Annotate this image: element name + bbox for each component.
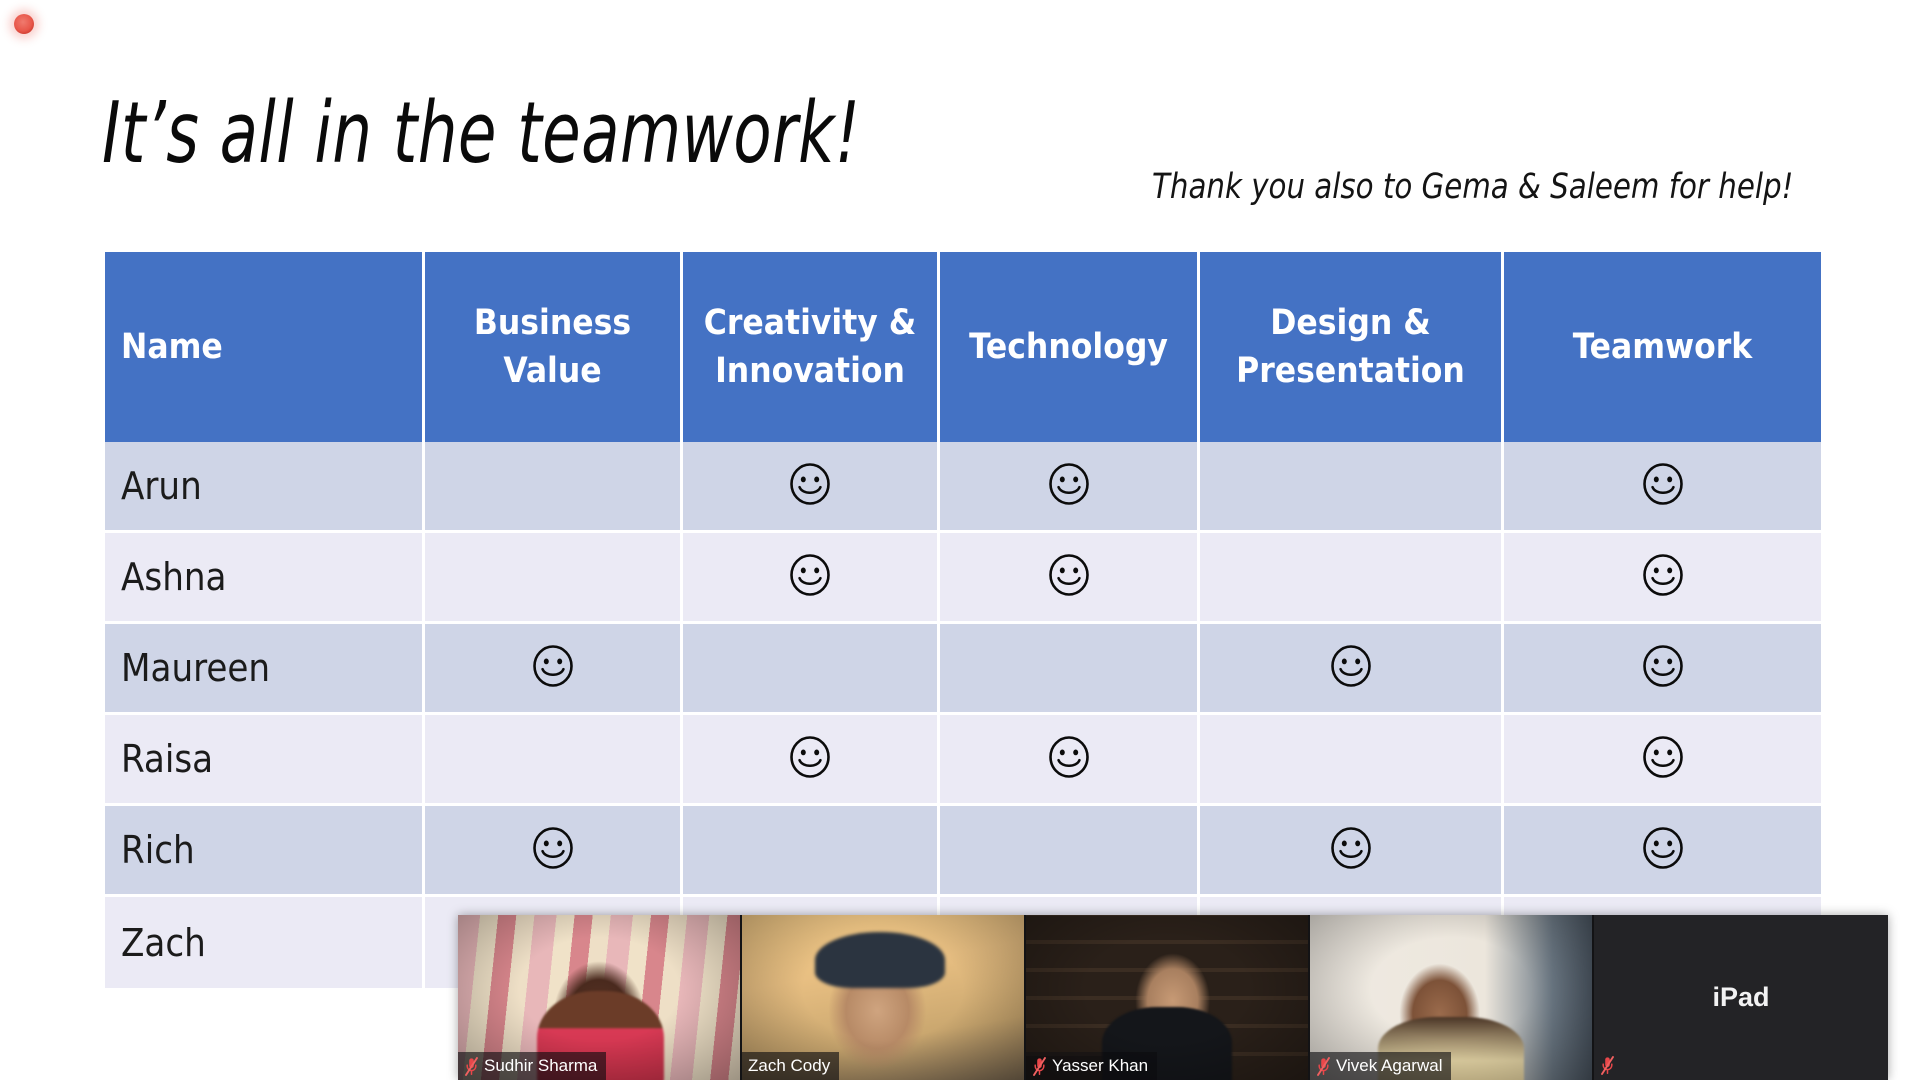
cell-raisa-technology — [940, 715, 1200, 806]
cell-arun-creativity-innovation — [683, 442, 940, 533]
smiley-face-icon — [1641, 553, 1685, 597]
column-header-design-presentation: Design & Presentation — [1200, 252, 1504, 442]
cell-maureen-teamwork — [1504, 624, 1821, 715]
video-participant-strip[interactable]: Sudhir Sharma Zach Cody — [458, 915, 1888, 1080]
slide-subtitle: Thank you also to Gema & Saleem for help… — [1152, 166, 1793, 208]
cell-raisa-teamwork — [1504, 715, 1821, 806]
cell-ashna-technology — [940, 533, 1200, 624]
video-tile-zach-cody[interactable]: Zach Cody — [742, 915, 1026, 1080]
recording-indicator-dot — [14, 14, 34, 34]
column-header-business-value: Business Value — [425, 252, 683, 442]
cell-name-zach: Zach — [105, 897, 425, 988]
cell-ashna-teamwork — [1504, 533, 1821, 624]
smiley-face-icon — [531, 826, 575, 870]
cell-rich-technology — [940, 806, 1200, 897]
column-header-creativity-innovation-line-2: Innovation — [715, 351, 905, 391]
smiley-face-icon — [788, 735, 832, 779]
column-header-teamwork-line-1: Teamwork — [1573, 327, 1752, 367]
cell-maureen-technology — [940, 624, 1200, 715]
video-tile-sudhir-sharma[interactable]: Sudhir Sharma — [458, 915, 742, 1080]
table-row: Ashna — [105, 533, 1821, 624]
cell-ashna-design-presentation — [1200, 533, 1504, 624]
column-header-name: Name — [105, 252, 425, 442]
cell-ashna-creativity-innovation — [683, 533, 940, 624]
cell-rich-design-presentation — [1200, 806, 1504, 897]
column-header-teamwork: Teamwork — [1504, 252, 1821, 442]
participant-label-yasser-khan: Yasser Khan — [1026, 1052, 1157, 1080]
table-body: ArunAshnaMaureenRaisaRichZach — [105, 442, 1821, 988]
cell-rich-business-value — [425, 806, 683, 897]
column-header-creativity-innovation: Creativity & Innovation — [683, 252, 940, 442]
column-header-technology: Technology — [940, 252, 1200, 442]
smiley-face-icon — [1329, 826, 1373, 870]
column-header-design-presentation-line-1: Design & — [1270, 303, 1430, 343]
participant-name-sudhir-sharma: Sudhir Sharma — [484, 1057, 597, 1075]
smiley-face-icon — [1641, 462, 1685, 506]
cell-arun-technology — [940, 442, 1200, 533]
cell-name-ashna: Ashna — [105, 533, 425, 624]
teamwork-contribution-table: Name Business Value Creativity & Innovat… — [105, 252, 1821, 988]
smiley-face-icon — [1641, 735, 1685, 779]
microphone-muted-icon — [1316, 1057, 1331, 1076]
cell-rich-teamwork — [1504, 806, 1821, 897]
smiley-face-icon — [1641, 826, 1685, 870]
column-header-business-value-line-1: Business — [474, 303, 631, 343]
column-header-business-value-line-2: Value — [503, 351, 601, 391]
participant-name-ipad: iPad — [1594, 915, 1888, 1080]
cell-arun-design-presentation — [1200, 442, 1504, 533]
cell-maureen-business-value — [425, 624, 683, 715]
smiley-face-icon — [1329, 644, 1373, 688]
table-row: Rich — [105, 806, 1821, 897]
cell-raisa-design-presentation — [1200, 715, 1504, 806]
video-tile-vivek-agarwal[interactable]: Vivek Agarwal — [1310, 915, 1594, 1080]
cell-name-raisa: Raisa — [105, 715, 425, 806]
participant-label-vivek-agarwal: Vivek Agarwal — [1310, 1052, 1451, 1080]
cell-rich-creativity-innovation — [683, 806, 940, 897]
smiley-face-icon — [788, 462, 832, 506]
cell-raisa-creativity-innovation — [683, 715, 940, 806]
smiley-face-icon — [1047, 553, 1091, 597]
participant-name-zach-cody: Zach Cody — [748, 1057, 830, 1075]
column-header-name-line-1: Name — [121, 327, 223, 367]
table-header: Name Business Value Creativity & Innovat… — [105, 252, 1821, 442]
cell-maureen-design-presentation — [1200, 624, 1504, 715]
video-tile-ipad[interactable]: iPad — [1594, 915, 1888, 1080]
cell-raisa-business-value — [425, 715, 683, 806]
smiley-face-icon — [1047, 735, 1091, 779]
column-header-technology-line-1: Technology — [969, 327, 1168, 367]
cell-ashna-business-value — [425, 533, 683, 624]
column-header-creativity-innovation-line-1: Creativity & — [704, 303, 916, 343]
column-header-design-presentation-line-2: Presentation — [1236, 351, 1465, 391]
smiley-face-icon — [1641, 644, 1685, 688]
cell-arun-business-value — [425, 442, 683, 533]
microphone-muted-icon — [464, 1057, 479, 1076]
participant-name-vivek-agarwal: Vivek Agarwal — [1336, 1057, 1442, 1075]
cell-name-maureen: Maureen — [105, 624, 425, 715]
microphone-muted-icon — [1032, 1057, 1047, 1076]
table-row: Raisa — [105, 715, 1821, 806]
table-header-row: Name Business Value Creativity & Innovat… — [105, 252, 1821, 442]
table-row: Maureen — [105, 624, 1821, 715]
microphone-muted-icon — [1600, 1056, 1615, 1075]
cell-name-arun: Arun — [105, 442, 425, 533]
participant-label-zach-cody: Zach Cody — [742, 1052, 839, 1080]
cell-maureen-creativity-innovation — [683, 624, 940, 715]
page-title: It’s all in the teamwork! — [102, 86, 860, 182]
presentation-slide: It’s all in the teamwork! Thank you also… — [0, 0, 1920, 1080]
participant-label-sudhir-sharma: Sudhir Sharma — [458, 1052, 606, 1080]
table-row: Arun — [105, 442, 1821, 533]
smiley-face-icon — [531, 644, 575, 688]
cell-name-rich: Rich — [105, 806, 425, 897]
smiley-face-icon — [788, 553, 832, 597]
cell-arun-teamwork — [1504, 442, 1821, 533]
video-tile-yasser-khan[interactable]: Yasser Khan — [1026, 915, 1310, 1080]
smiley-face-icon — [1047, 462, 1091, 506]
participant-name-yasser-khan: Yasser Khan — [1052, 1057, 1148, 1075]
